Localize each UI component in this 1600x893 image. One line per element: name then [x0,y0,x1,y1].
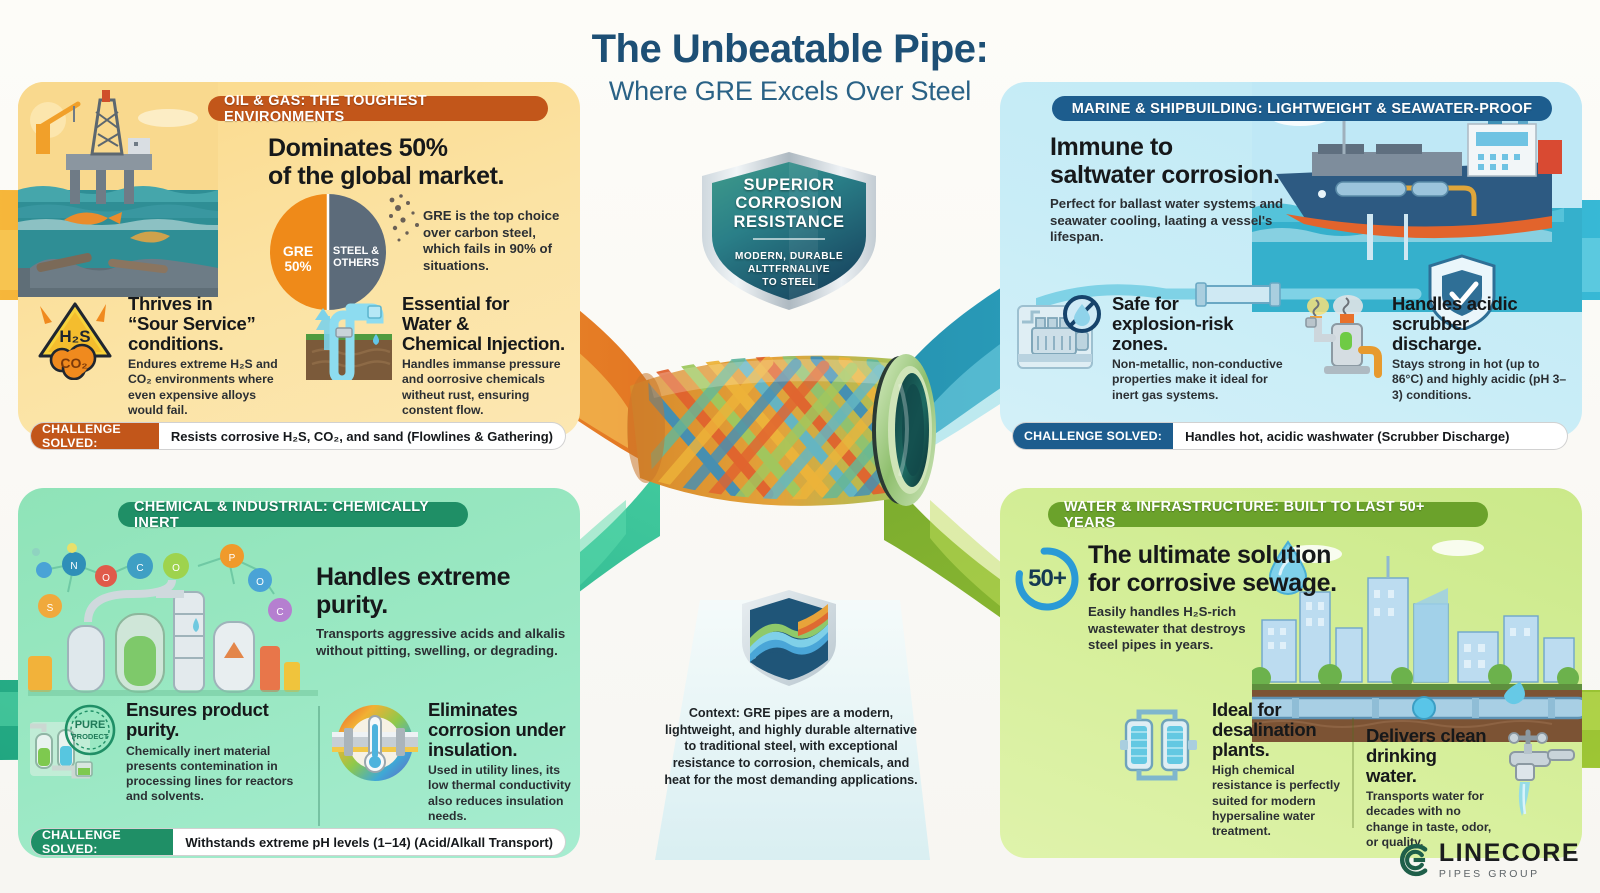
svg-text:PRODECT: PRODECT [72,732,109,741]
chemical-item1-body: Chemically inert material presents conte… [126,744,306,805]
marine-item2-heading-l2: scrubber [1392,314,1574,334]
water-item-drinking[interactable]: Delivers clean drinking water. Transport… [1366,726,1576,850]
water-items-divider [1352,718,1354,828]
logo-tagline: PIPES GROUP [1439,869,1580,880]
svg-text:H₂S: H₂S [59,327,90,346]
linecore-logo[interactable]: LINECORE PIPES GROUP [1394,841,1580,880]
water-hero-text: The ultimate solution for corrosive sewa… [1088,542,1378,654]
marine-item2-heading-l1: Handles acidic [1392,294,1574,314]
oil-hero-body: GRE is the top choice over carbon steel,… [423,208,573,274]
oil-item2-body: Handles immanse pressure and oorrosive c… [402,357,570,418]
shield-line-3: RESISTANCE [698,213,880,231]
shield-line-2: CORROSION [698,194,880,212]
water-item1-body: High chemical resistance is perfectly su… [1212,763,1356,839]
shield-divider [753,238,825,240]
water-item1-heading-l3: plants. [1212,740,1356,760]
water-item-desalination[interactable]: Ideal for desalination plants. High chem… [1116,700,1356,839]
chemical-items-divider [318,706,320,826]
marine-item2-heading-l3: discharge. [1392,334,1574,354]
panel-chemical-industrial[interactable]: N O C O P O C S CHEMICAL & INDUSTRIA [18,488,580,858]
marine-hero-body: Perfect for ballast water systems and se… [1050,196,1300,246]
shield-text-block: SUPERIOR CORROSION RESISTANCE MODERN, DU… [698,176,880,289]
challenge-value-marine: Handles hot, acidic washwater (Scrubber … [1173,423,1521,449]
desalination-membrane-icon [1116,700,1202,786]
thermometer-pipe-icon [332,700,418,786]
challenge-label-marine: CHALLENGE SOLVED: [1013,423,1173,449]
water-item2-heading-l2: drinking water. [1366,746,1492,786]
oil-hero-body-wrap: GRE is the top choice over carbon steel,… [423,208,573,274]
injection-well-pipe-icon [306,294,392,380]
shield-line-1: SUPERIOR [698,176,880,194]
oil-item-sour-service[interactable]: H₂S CO₂ Thrives in “Sour Service” condit… [32,294,297,418]
water-item1-heading-l1: Ideal for [1212,700,1356,720]
water-item2-heading-l1: Delivers clean [1366,726,1492,746]
shield-line-5: ALTTFRNALIVE [698,264,880,276]
engine-no-spark-icon [1016,294,1102,380]
context-text: Context: GRE pipes are a modern, lightwe… [660,705,922,789]
water-hero-heading-l1: The ultimate solution [1088,542,1378,570]
oil-item2-heading-l1: Essential for [402,294,570,314]
chemical-item2-heading-l3: insulation. [428,740,580,760]
water-hero-body: Easily handles H₂S-rich wastewater that … [1088,604,1258,654]
panel-marine-shipbuilding[interactable]: MARINE & SHIPBUILDING: LIGHTWEIGHT & SEA… [1000,82,1582,437]
oil-item-injection[interactable]: Essential for Water & Chemical Injection… [306,294,574,418]
oil-hero-heading: Dominates 50% of the global market. [268,135,568,190]
chemical-item1-heading-l2: purity. [126,720,306,740]
chemical-item1-heading-l1: Ensures product [126,700,306,720]
oil-item1-heading-l3: conditions. [128,334,293,354]
marine-hero-heading-l2: saltwater corrosion. [1050,162,1300,190]
oil-item1-heading-l2: “Sour Service” [128,314,293,334]
challenge-label-chemical: CHALLENGE SOLVED: [31,829,173,855]
chemical-hero-text: Handles extreme purity. Transports aggre… [316,564,566,659]
shield-line-4: MODERN, DURABLE [698,251,880,263]
panel-water-infrastructure[interactable]: WATER & INFRASTRUCTURE: BUILT TO LAST 50… [1000,488,1582,858]
scrubber-stack-icon [1296,294,1382,380]
fifty-plus-years-badge: 50+ [1014,546,1080,612]
oil-item2-heading-l2: Water & [402,314,570,334]
marine-item2-body: Stays strong in hot (up to 86°C) and hig… [1392,357,1574,402]
challenge-bar-chemical[interactable]: CHALLENGE SOLVED: Withstands extreme pH … [30,828,566,856]
panel-header-oil: OIL & GAS: THE TOUGHEST ENVIRONMENTS [208,96,548,121]
marine-hero-heading-l1: Immune to [1050,134,1300,162]
title-sub: Where GRE Excels Over Steel [500,76,1080,107]
h2s-co2-hazard-icon: H₂S CO₂ [32,294,118,380]
logo-name: LINECORE [1439,841,1580,866]
page-title: The Unbeatable Pipe: Where GRE Excels Ov… [500,28,1080,107]
chemical-item2-heading-l1: Eliminates [428,700,580,720]
challenge-value-oil: Resists corrosive H₂S, CO₂, and sand (Fl… [159,423,565,449]
panel-header-marine: MARINE & SHIPBUILDING: LIGHTWEIGHT & SEA… [1052,96,1552,121]
chemical-item-cui[interactable]: Eliminates corrosion under insulation. U… [332,700,580,824]
marine-hero-text: Immune to saltwater corrosion. Perfect f… [1050,134,1300,246]
svg-text:PURE: PURE [75,719,106,731]
marine-item-explosion-risk[interactable]: Safe for explosion-risk zones. Non-metal… [1016,294,1288,403]
badge-value: 50+ [1014,546,1080,612]
pie-label-steel-others: STEEL &OTHERS [330,246,382,270]
oil-item1-heading-l1: Thrives in [128,294,293,314]
chemical-item2-heading-l2: corrosion under [428,720,580,740]
marine-item1-body: Non-metallic, non-conductive properties … [1112,357,1288,402]
panel-oil-and-gas[interactable]: OIL & GAS: THE TOUGHEST ENVIRONMENTS Dom… [18,82,580,437]
chemical-hero-body: Transports aggressive acids and alkalis … [316,626,566,659]
challenge-value-chemical: Withstands extreme pH levels (1–14) (Aci… [173,829,565,855]
water-item1-heading-l2: desalination [1212,720,1356,740]
superior-corrosion-resistance-shield: SUPERIOR CORROSION RESISTANCE MODERN, DU… [698,150,880,312]
challenge-label-oil: CHALLENGE SOLVED: [31,423,159,449]
marine-item1-heading-l3: zones. [1112,334,1288,354]
oil-item1-body: Endures extreme H₂S and CO₂ environments… [128,357,293,418]
chemical-hero-heading-l2: purity. [316,592,566,620]
oil-item2-heading-l3: Chemical Injection. [402,334,570,354]
faucet-clean-water-icon [1502,726,1576,812]
panel-header-water: WATER & INFRASTRUCTURE: BUILT TO LAST 50… [1048,502,1488,527]
marine-item1-heading-l1: Safe for [1112,294,1288,314]
pie-label-gre: GRE 50% [274,244,322,275]
chemical-item2-body: Used in utility lines, its low thermal c… [428,763,580,824]
challenge-bar-marine[interactable]: CHALLENGE SOLVED: Handles hot, acidic wa… [1012,422,1568,450]
chemical-item-purity[interactable]: PURE PRODECT Ensures product purity. Che… [30,700,310,804]
infographic-canvas: The Unbeatable Pipe: Where GRE Excels Ov… [0,0,1600,893]
linecore-c-emblem [1394,842,1430,878]
wave-shield-icon [738,588,840,688]
woven-gre-pipe-cutaway [600,328,1000,528]
marine-item-scrubber[interactable]: Handles acidic scrubber discharge. Stays… [1296,294,1574,403]
oil-hero-heading-line1: Dominates 50% [268,135,568,163]
pure-product-seal-icon: PURE PRODECT [30,700,116,786]
marine-item1-heading-l2: explosion-risk [1112,314,1288,334]
svg-text:CO₂: CO₂ [60,355,87,371]
challenge-bar-oil[interactable]: CHALLENGE SOLVED: Resists corrosive H₂S,… [30,422,566,450]
panel-header-chemical: CHEMICAL & INDUSTRIAL: CHEMICALLY INERT [118,502,468,527]
title-main: The Unbeatable Pipe: [500,28,1080,70]
oil-hero-heading-line2: of the global market. [268,163,568,191]
chemical-hero-heading-l1: Handles extreme [316,564,566,592]
water-hero-heading-l2: for corrosive sewage. [1088,570,1378,598]
shield-line-6: TO STEEL [698,277,880,289]
